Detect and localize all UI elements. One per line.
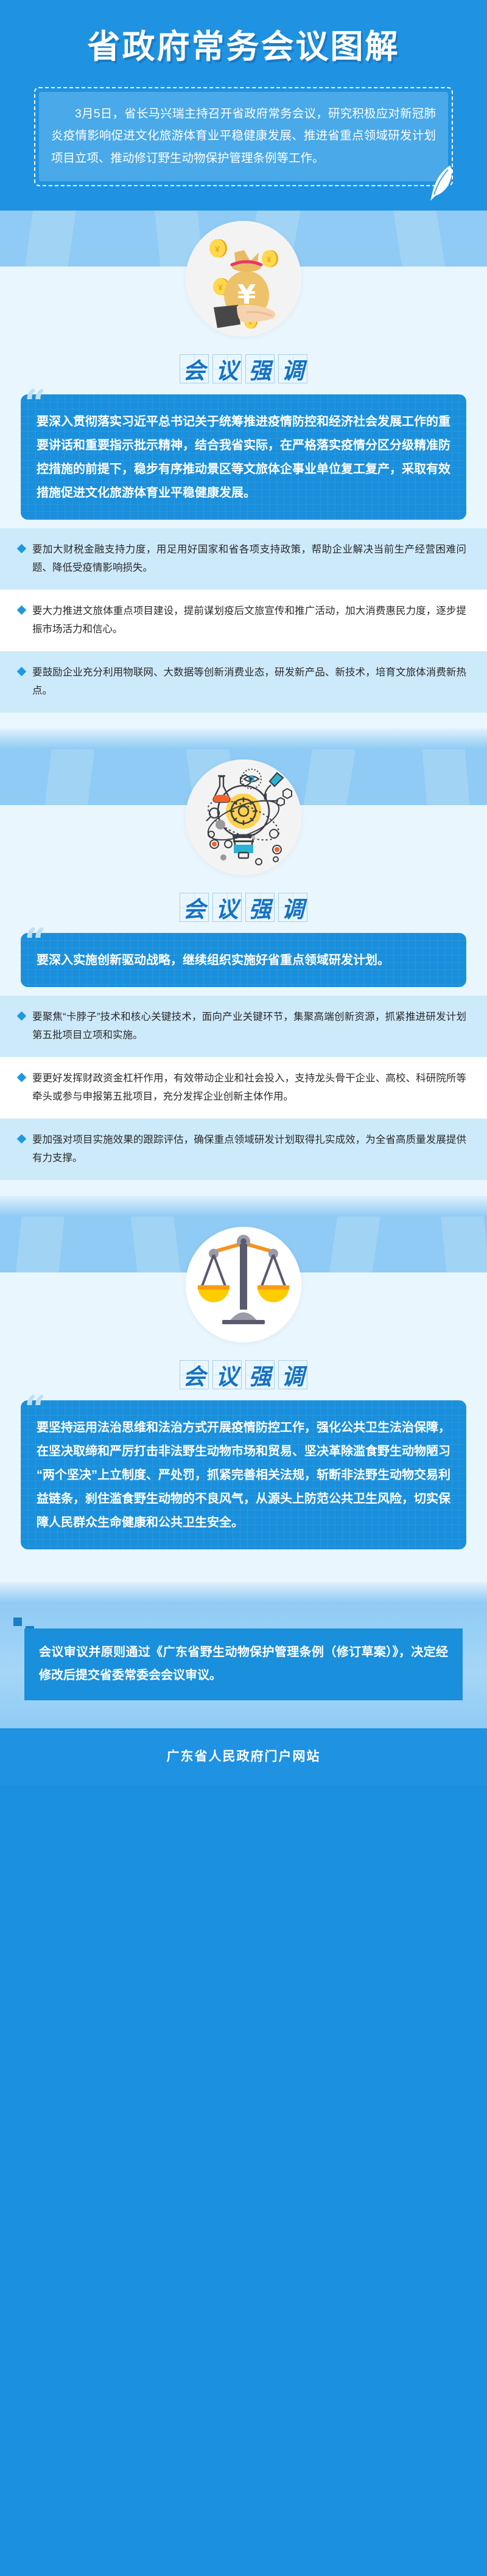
quote-text: 要深入贯彻落实习近平总书记关于统筹推进疫情防控和经济社会发展工作的重要讲话和重要… — [37, 410, 450, 505]
intro-inner-panel: 3月5日，省长马兴瑞主持召开省政府常务会议，研究积极应对新冠肺炎疫情影响促进文化… — [39, 92, 448, 181]
section-heading: 会 议 强 调 — [0, 885, 487, 933]
section-icon-stage — [0, 749, 487, 885]
diamond-bullet-icon — [17, 605, 27, 615]
list-item: 要更好发挥财政资金杠杆作用，有效带动企业和社会投入，支持龙头骨干企业、高校、科研… — [0, 1057, 487, 1119]
diamond-bullet-icon — [17, 543, 27, 553]
conclusion-panel: 会议审议并原则通过《广东省野生动物保护管理条例（修订草案）》，决定经修改后提交省… — [24, 1628, 463, 1700]
innovation-lightbulb-atom-icon — [186, 759, 301, 875]
intro-paragraph: 3月5日，省长马兴瑞主持召开省政府常务会议，研究积极应对新冠肺炎疫情影响促进文化… — [51, 103, 436, 169]
quote-open-icon: “ — [24, 1391, 46, 1428]
intro-dashed-frame: 3月5日，省长马兴瑞主持召开省政府常务会议，研究积极应对新冠肺炎疫情影响促进文化… — [34, 87, 453, 186]
list-item-text: 要加强对项目实施效果的跟踪评估，确保重点领域研发计划取得扎实成效，为全省高质量发… — [32, 1131, 466, 1168]
quote-text: 要坚持运用法治思维和法治方式开展疫情防控工作，强化公共卫生法治保障，在坚决取缔和… — [37, 1416, 450, 1535]
heading-char-0: 会 — [180, 893, 209, 922]
list-item-text: 要聚焦“卡脖子”技术和核心关键技术，面向产业关键环节，集聚高端创新资源，抓紧推进… — [32, 1008, 466, 1045]
infographic-page: 省政府常务会议图解 3月5日，省长马兴瑞主持召开省政府常务会议，研究积极应对新冠… — [0, 0, 487, 1785]
footer-source: 广东省人民政府门户网站 — [0, 1747, 487, 1765]
quote-panel: 要深入实施创新驱动战略，继续组织实施好省重点领域研发计划。 — [21, 933, 466, 987]
list-item-text: 要更好发挥财政资金杠杆作用，有效带动企业和社会投入，支持龙头骨干企业、高校、科研… — [32, 1069, 466, 1106]
quote-text: 要深入实施创新驱动战略，继续组织实施好省重点领域研发计划。 — [37, 949, 450, 972]
heading-char-1: 议 — [212, 893, 242, 922]
svg-text:¥: ¥ — [215, 244, 220, 254]
heading-char-3: 调 — [278, 1360, 307, 1389]
list-item: 要鼓励企业充分利用物联网、大数据等创新消费业态，研发新产品、新技术，培育文旅体消… — [0, 651, 487, 713]
section-finance-tourism: ¥ ¥ ¥ ¥ — [0, 211, 487, 749]
header: 省政府常务会议图解 3月5日，省长马兴瑞主持召开省政府常务会议，研究积极应对新冠… — [0, 0, 487, 211]
section-divider-band — [0, 1582, 487, 1603]
section-heading: 会 议 强 调 — [0, 1353, 487, 1400]
footer: 广东省人民政府门户网站 — [0, 1728, 487, 1785]
diamond-bullet-icon — [17, 666, 27, 676]
heading-char-1: 议 — [212, 1360, 242, 1389]
heading-char-1: 议 — [212, 354, 242, 383]
quote-open-icon: “ — [24, 923, 46, 961]
page-title: 省政府常务会议图解 — [0, 29, 487, 65]
bullet-list: 要加大财税金融支持力度，用足用好国家和省各项支持政策，帮助企业解决当前生产经营困… — [0, 528, 487, 728]
quote-block: “ 要坚持运用法治思维和法治方式开展疫情防控工作，强化公共卫生法治保障，在坚决取… — [21, 1400, 466, 1549]
balance-scales-icon — [186, 1227, 301, 1342]
section-wildlife-law: 会 议 强 调 “ 要坚持运用法治思维和法治方式开展疫情防控工作，强化公共卫生法… — [0, 1216, 487, 1603]
section-heading: 会 议 强 调 — [0, 347, 487, 394]
heading-grid-characters: 会 议 强 调 — [180, 354, 307, 383]
list-item-text: 要鼓励企业充分利用物联网、大数据等创新消费业态，研发新产品、新技术，培育文旅体消… — [32, 663, 466, 700]
heading-grid-characters: 会 议 强 调 — [180, 893, 307, 922]
heading-char-0: 会 — [180, 1360, 209, 1389]
intro-block: 3月5日，省长马兴瑞主持召开省政府常务会议，研究积极应对新冠肺炎疫情影响促进文化… — [34, 87, 453, 186]
money-bag-in-hand-icon: ¥ ¥ ¥ ¥ — [186, 221, 301, 337]
conclusion-zone: 会议审议并原则通过《广东省野生动物保护管理条例（修订草案）》，决定经修改后提交省… — [0, 1603, 487, 1728]
heading-grid-characters: 会 议 强 调 — [180, 1360, 307, 1389]
section-divider-band — [0, 1196, 487, 1216]
diamond-bullet-icon — [17, 1134, 27, 1143]
heading-char-3: 调 — [278, 354, 307, 383]
quote-panel: 要坚持运用法治思维和法治方式开展疫情防控工作，强化公共卫生法治保障，在坚决取缔和… — [21, 1400, 466, 1549]
heading-char-0: 会 — [180, 354, 209, 383]
heading-char-3: 调 — [278, 893, 307, 922]
list-item: 要大力推进文旅体重点项目建设，提前谋划疫后文旅宣传和推广活动，加大消费惠民力度，… — [0, 590, 487, 651]
heading-char-2: 强 — [245, 354, 275, 383]
quote-block: “ 要深入贯彻落实习近平总书记关于统筹推进疫情防控和经济社会发展工作的重要讲话和… — [21, 394, 466, 520]
section-icon-stage — [0, 1216, 487, 1353]
quote-block: “ 要深入实施创新驱动战略，继续组织实施好省重点领域研发计划。 — [21, 933, 466, 987]
quote-open-icon: “ — [24, 385, 46, 422]
diamond-bullet-icon — [17, 1011, 27, 1021]
section-icon-stage: ¥ ¥ ¥ ¥ — [0, 211, 487, 347]
bullet-list: 要聚焦“卡脖子”技术和核心关键技术，面向产业关键环节，集聚高端创新资源，抓紧推进… — [0, 996, 487, 1196]
list-item-text: 要大力推进文旅体重点项目建设，提前谋划疫后文旅宣传和推广活动，加大消费惠民力度，… — [32, 602, 466, 639]
conclusion-block: 会议审议并原则通过《广东省野生动物保护管理条例（修订草案）》，决定经修改后提交省… — [24, 1628, 463, 1700]
svg-text:¥: ¥ — [218, 283, 223, 292]
list-item: 要加强对项目实施效果的跟踪评估，确保重点领域研发计划取得扎实成效，为全省高质量发… — [0, 1119, 487, 1180]
diamond-bullet-icon — [17, 1072, 27, 1082]
list-item: 要加大财税金融支持力度，用足用好国家和省各项支持政策，帮助企业解决当前生产经营困… — [0, 528, 487, 590]
heading-char-2: 强 — [245, 1360, 275, 1389]
section-divider-band — [0, 728, 487, 749]
svg-text:¥: ¥ — [267, 255, 272, 264]
section-innovation-rd: 会 议 强 调 “ 要深入实施创新驱动战略，继续组织实施好省重点领域研发计划。 … — [0, 749, 487, 1216]
list-item: 要聚焦“卡脖子”技术和核心关键技术，面向产业关键环节，集聚高端创新资源，抓紧推进… — [0, 996, 487, 1057]
conclusion-text: 会议审议并原则通过《广东省野生动物保护管理条例（修订草案）》，决定经修改后提交省… — [39, 1641, 448, 1687]
quote-panel: 要深入贯彻落实习近平总书记关于统筹推进疫情防控和经济社会发展工作的重要讲话和重要… — [21, 394, 466, 520]
list-item-text: 要加大财税金融支持力度，用足用好国家和省各项支持政策，帮助企业解决当前生产经营困… — [32, 540, 466, 578]
heading-char-2: 强 — [245, 893, 275, 922]
